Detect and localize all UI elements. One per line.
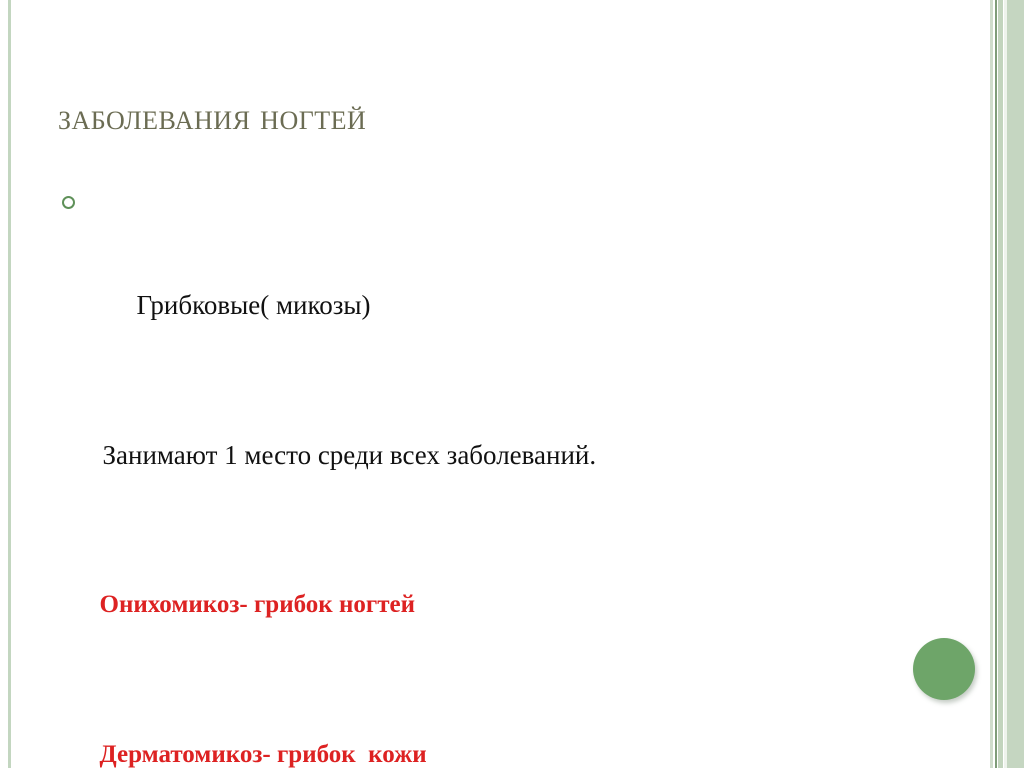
decorative-green-circle bbox=[913, 638, 975, 700]
list-item: Грибковые( микозы) bbox=[62, 180, 942, 380]
list-item-label: Грибковые( микозы) bbox=[137, 290, 371, 320]
band-stripe-3 bbox=[998, 0, 1003, 768]
page-title: Заболевания ногтей bbox=[58, 96, 366, 140]
band-stripe-1 bbox=[990, 0, 993, 768]
list-item: Занимают 1 место среди всех заболеваний. bbox=[62, 380, 942, 530]
band-stripe-5 bbox=[1007, 0, 1024, 768]
bullet-ring-icon bbox=[62, 196, 75, 209]
body-content: Грибковые( микозы) Занимают 1 место сред… bbox=[62, 180, 942, 768]
right-decorative-band bbox=[990, 0, 1024, 768]
slide: Заболевания ногтей Грибковые( микозы) За… bbox=[0, 0, 1024, 768]
list-item-label: Дерматомикоз- грибок кожи bbox=[100, 741, 427, 768]
left-accent-rule bbox=[8, 0, 11, 768]
list-item-highlight: Дерматомикоз- грибок кожи bbox=[62, 680, 942, 768]
list-item-label: Занимают 1 место среди всех заболеваний. bbox=[103, 440, 597, 470]
list-item-label: Онихомикоз- грибок ногтей bbox=[100, 591, 415, 618]
list-item-highlight: Онихомикоз- грибок ногтей bbox=[62, 530, 942, 680]
band-stripe-2 bbox=[995, 0, 997, 768]
